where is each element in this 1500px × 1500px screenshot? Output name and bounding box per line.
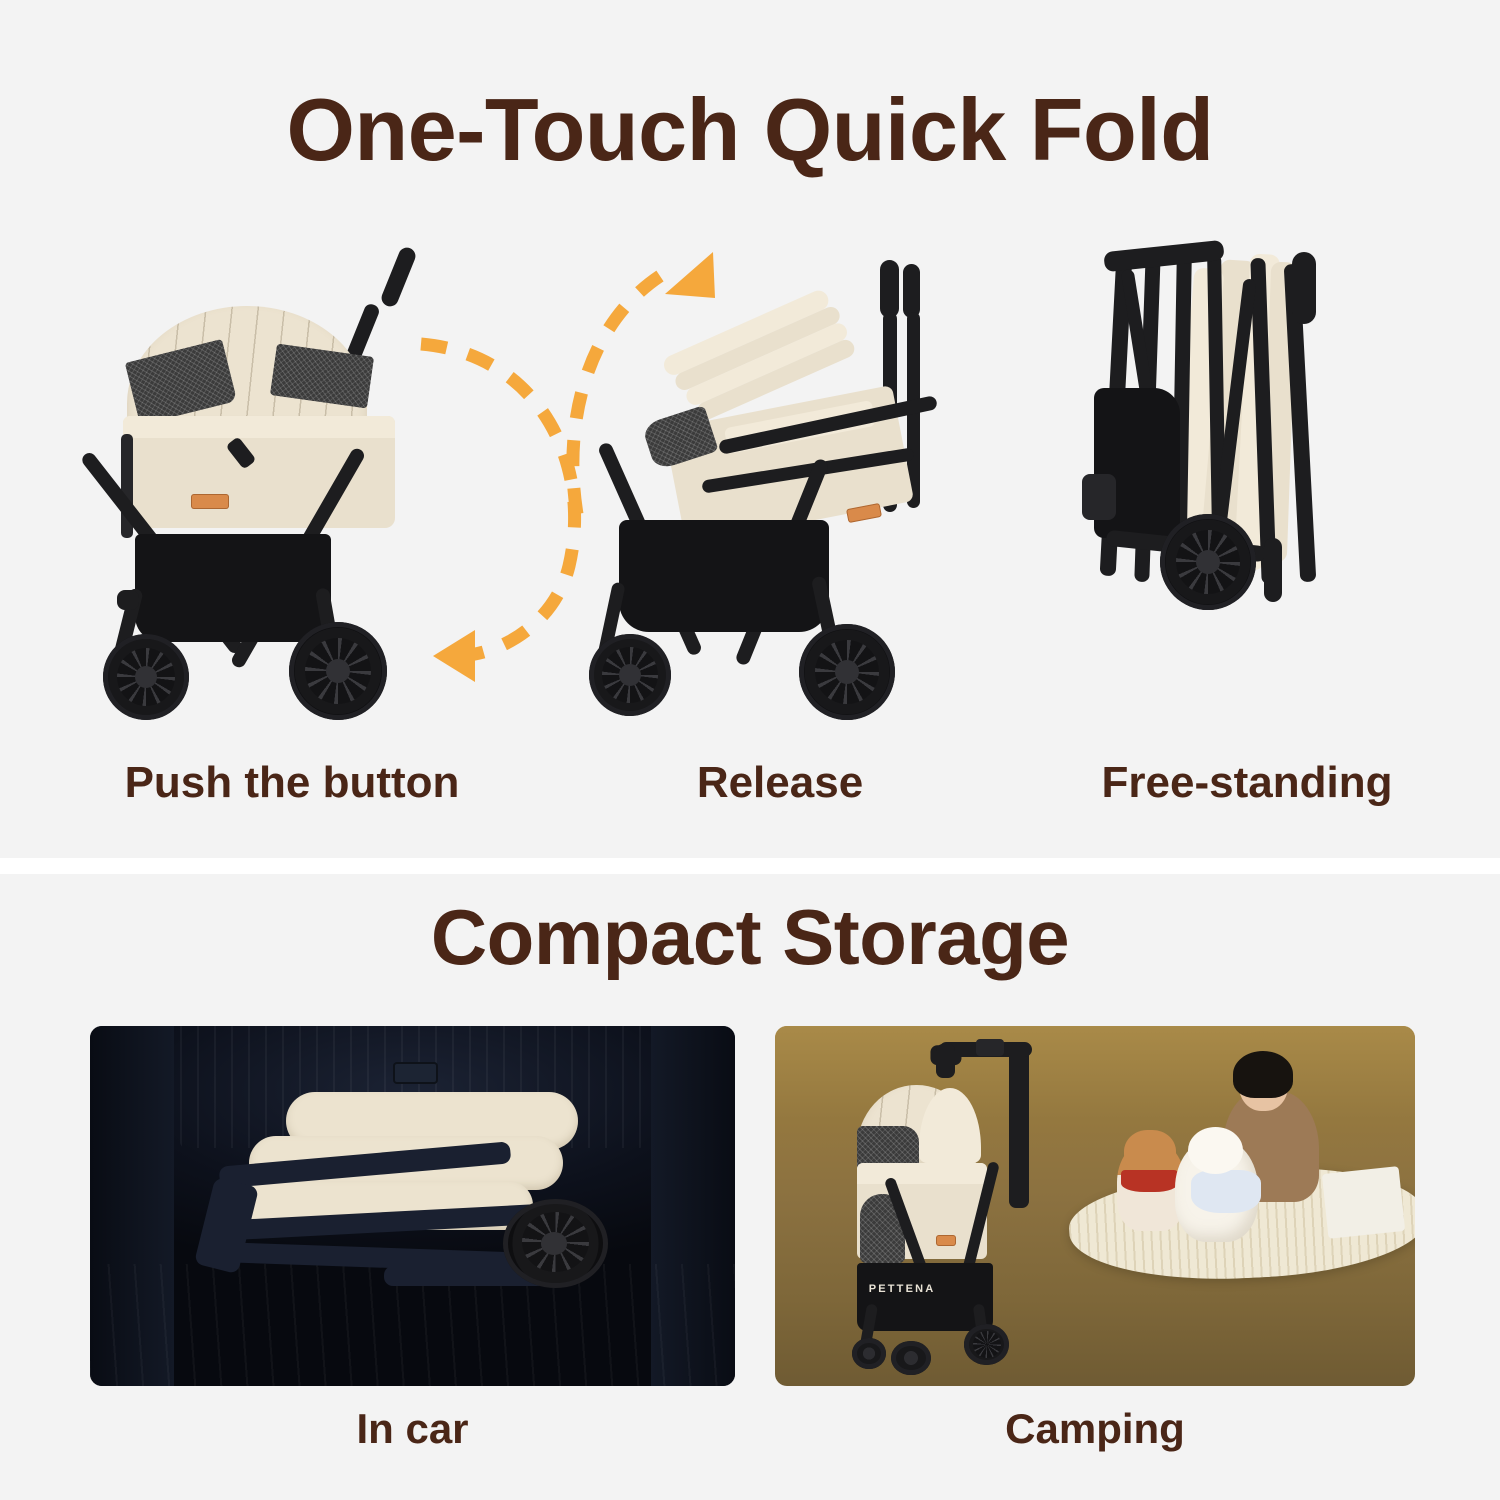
illustration-stroller-mid-fold (585, 238, 1015, 738)
photo-camping: PETTENA (775, 1026, 1415, 1386)
illustration-stroller-folded-upright (1060, 238, 1440, 738)
stroller-brand-label: PETTENA (869, 1283, 936, 1295)
woman-hair (1233, 1051, 1293, 1098)
infographic-page: One-Touch Quick Fold (0, 0, 1500, 1500)
trunk-latch (393, 1062, 438, 1084)
illustration-stroller-unfolded (95, 238, 565, 738)
caption-free-standing: Free-standing (1012, 758, 1482, 808)
folded-stroller-in-trunk (219, 1087, 593, 1310)
section-divider (0, 858, 1500, 874)
dashed-arc-arrow-icon (555, 218, 805, 548)
section-heading-compact-storage: Compact Storage (0, 898, 1500, 978)
dog-bichon-outfit (1191, 1170, 1261, 1213)
section-heading-quick-fold: One-Touch Quick Fold (0, 85, 1500, 175)
fold-steps-captions: Push the button Release Free-standing (0, 758, 1500, 808)
caption-in-car: In car (90, 1405, 735, 1453)
caption-release: Release (570, 758, 990, 808)
paper-bag (1322, 1166, 1405, 1238)
caption-push-the-button: Push the button (42, 758, 542, 808)
storage-photo-captions: In car Camping (0, 1405, 1500, 1453)
section-one-touch-quick-fold: One-Touch Quick Fold (0, 0, 1500, 858)
caption-camping: Camping (775, 1405, 1415, 1453)
dog-bichon-head (1188, 1127, 1243, 1174)
stroller-on-grass: PETTENA (852, 1037, 1134, 1379)
photo-in-car (90, 1026, 735, 1386)
